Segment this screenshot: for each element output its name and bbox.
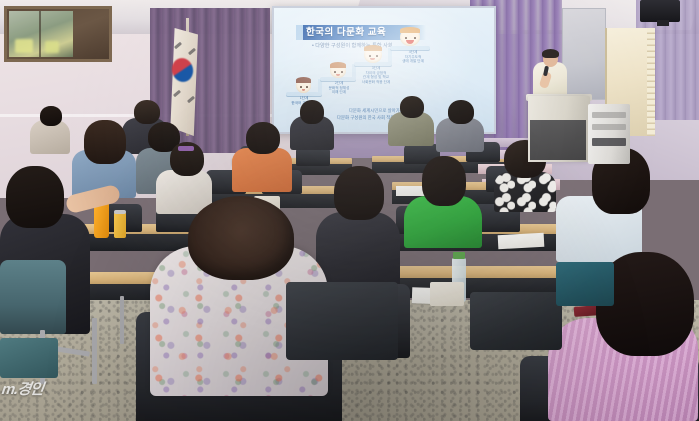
upper-left-window-frame (4, 6, 112, 62)
lecture-hall-photo: 한국의 다문화 교육 • 다양한 구성원이 함께하는 통합 사회 1단계한국어 … (0, 0, 699, 421)
step-face-4-hair (400, 27, 420, 33)
attendee-orange-body (232, 148, 292, 192)
attendee-back-1-head (300, 100, 324, 124)
attendee-orange-head (246, 122, 280, 154)
step-label-3: 3단계차이의 긍정적관계 형성 및 학교사회문화 적응 단계 (352, 66, 400, 84)
step-face-3-hair (364, 45, 382, 51)
juice-can[interactable] (114, 212, 126, 238)
slide-footer-line1: 다문화 세계시민으로 살아가기 위하여 (318, 108, 448, 114)
rack-slot-2 (592, 124, 626, 130)
attendee-back-5-head (40, 106, 62, 126)
tissue-box[interactable] (430, 282, 464, 306)
wall-speaker (640, 0, 680, 22)
attendee-polka-body (494, 172, 556, 212)
step-face-1-mouth (302, 89, 305, 91)
attendee-denim-head (84, 120, 126, 164)
step-face-4-eye-l (405, 37, 407, 39)
whiteboard-rail (647, 28, 655, 136)
window-light-b (45, 41, 59, 53)
speaker-mount (657, 20, 669, 26)
attendee-back-4-head (134, 100, 160, 124)
step-face-1-eye-r (306, 86, 308, 88)
chair-leg-b (92, 318, 97, 384)
podium-shelf (530, 120, 586, 160)
hair-clip-icon (178, 146, 194, 151)
step-face-1-hair (296, 77, 311, 83)
rack-slot-3 (592, 138, 626, 146)
chair-foreground-teal[interactable] (0, 260, 66, 334)
slide-bullet: • 다양한 구성원이 함께하는 통합 사회 (312, 43, 462, 50)
slide-title-accent (296, 25, 303, 40)
presenter-hair (542, 49, 559, 58)
rack-slot-1 (592, 112, 626, 118)
water-bottle-cap (453, 252, 465, 259)
papers-right[interactable] (498, 233, 545, 249)
attendee-left-head (6, 166, 64, 228)
side-window (562, 8, 606, 100)
attendee-dark-man-head (334, 166, 384, 220)
step-face-3-eye-l (369, 55, 371, 57)
attendee-green-head (422, 156, 466, 206)
step-face-2-hair (330, 62, 346, 68)
step-label-4: 4단계자기주도적생애 개발 단계 (390, 50, 436, 64)
monitor-back-center (286, 282, 398, 360)
monitor-back-teal (556, 262, 614, 306)
step-face-1-eye-l (300, 86, 302, 88)
chair-leg-c (120, 296, 124, 344)
attendee-floral-head (188, 196, 294, 280)
step-face-2-eye-r (341, 71, 343, 73)
step-face-2-eye-l (334, 71, 336, 73)
monitor-back-right (470, 292, 562, 350)
chair-back-teal-left (0, 338, 58, 378)
step-face-4-eye-r (414, 37, 416, 39)
attendee-back-2-head (400, 96, 424, 118)
step-face-3-eye-r (376, 55, 378, 57)
juice-can-lid (114, 210, 126, 214)
window-light-a (15, 39, 33, 53)
attendee-back-3-head (448, 100, 474, 124)
